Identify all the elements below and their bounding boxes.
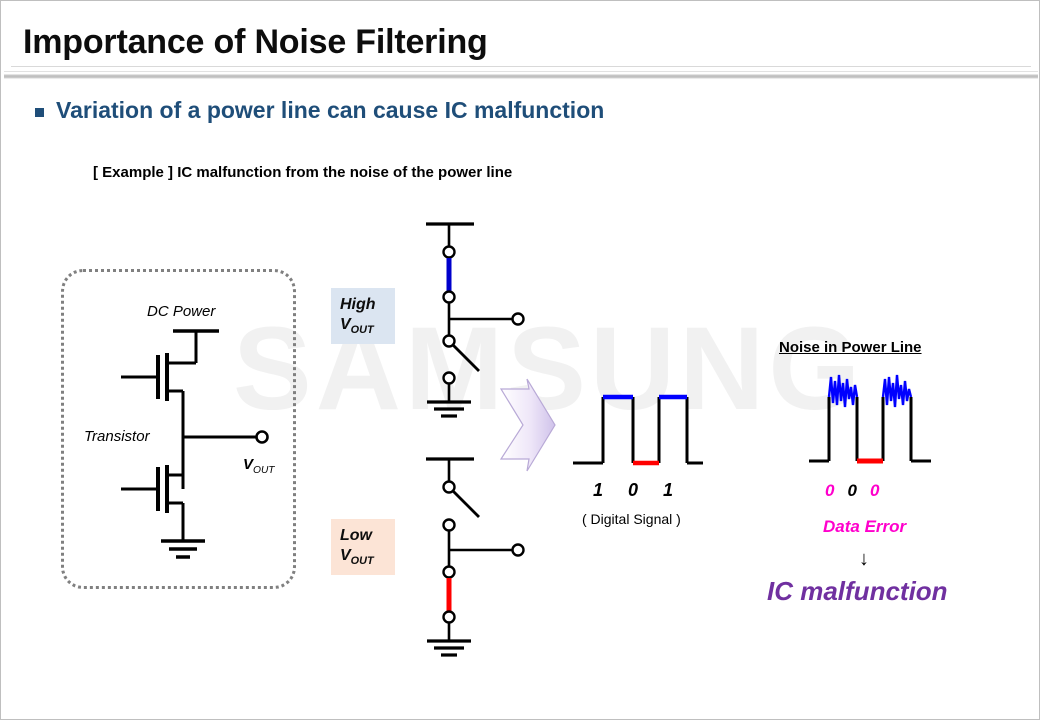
digital-signal-waveform-svg — [571, 389, 701, 474]
low-v: V — [340, 547, 351, 564]
high-output-terminal — [513, 314, 524, 325]
high-vout-label-box: High VOUT — [331, 288, 395, 344]
ic-malfunction-result: IC malfunction — [767, 576, 948, 607]
error-bit-3: 0 — [870, 481, 879, 500]
page-title: Importance of Noise Filtering — [23, 23, 488, 62]
low-node-bottom — [444, 612, 455, 623]
ns-noise-burst-2 — [883, 375, 911, 407]
digital-signal-caption: ( Digital Signal ) — [582, 511, 681, 527]
bullet-text: Variation of a power line can cause IC m… — [56, 97, 604, 124]
low-vout-label-box: Low VOUT — [331, 519, 395, 575]
down-arrow-icon: ↓ — [859, 549, 869, 569]
high-open-switch-blade — [453, 345, 479, 371]
ns-noise-burst-1 — [829, 375, 857, 407]
error-bit-2: 0 — [847, 481, 856, 500]
high-node-mid-lower — [444, 336, 455, 347]
high-v: V — [340, 316, 351, 333]
vout-terminal-node — [257, 432, 268, 443]
chevron-arrow-icon — [499, 373, 571, 477]
low-node-top — [444, 482, 455, 493]
header-divider-thin — [4, 71, 1038, 72]
header-divider-thick — [4, 74, 1038, 79]
digital-signal-bits: 1 0 1 — [593, 480, 683, 501]
low-open-switch-blade — [453, 491, 479, 517]
noise-panel-title: Noise in Power Line — [779, 339, 922, 356]
low-vout-switch-svg — [411, 451, 541, 641]
error-bit-1: 0 — [825, 481, 834, 500]
bullet-row: Variation of a power line can cause IC m… — [35, 97, 604, 124]
noisy-signal-waveform-svg — [807, 371, 937, 466]
high-node-mid-upper — [444, 292, 455, 303]
high-vout-line1: High — [340, 295, 376, 315]
low-node-mid-upper — [444, 520, 455, 531]
transistor-circuit-svg — [61, 269, 301, 599]
high-node-top — [444, 247, 455, 258]
high-node-bottom — [444, 373, 455, 384]
example-caption: [ Example ] IC malfunction from the nois… — [93, 164, 512, 181]
low-sub: OUT — [351, 555, 374, 567]
high-vout-line2: VOUT — [340, 315, 374, 338]
chevron-arrow-shape — [501, 379, 555, 471]
square-bullet-icon — [35, 108, 44, 117]
low-vout-line1: Low — [340, 526, 372, 546]
high-sub: OUT — [351, 324, 374, 336]
low-output-terminal — [513, 545, 524, 556]
high-vout-switch-svg — [411, 216, 541, 396]
low-vout-line2: VOUT — [340, 546, 374, 569]
low-node-mid-lower — [444, 567, 455, 578]
data-error-label: Data Error — [823, 517, 906, 537]
error-bits-row: 000 — [825, 481, 892, 501]
slide-canvas: Importance of Noise Filtering SAMSUNG Va… — [0, 0, 1040, 720]
